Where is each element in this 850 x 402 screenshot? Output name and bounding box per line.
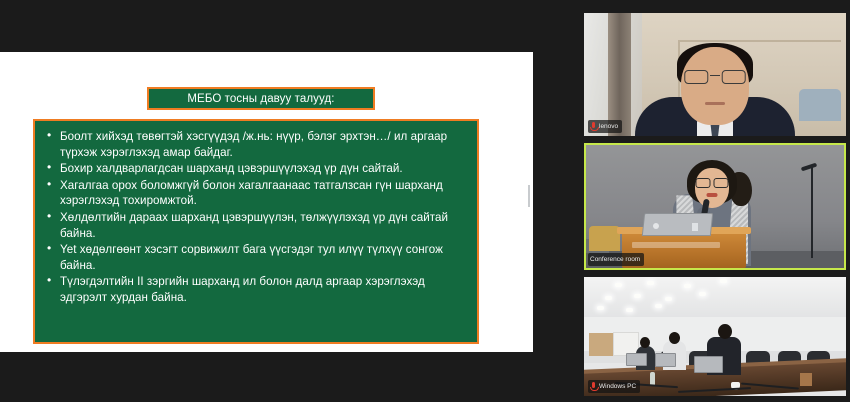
video-tile-participant-1[interactable]: lenovo [584, 13, 846, 136]
shared-screen-region[interactable]: МЕБО тосны давуу талууд: Боолт хийхэд тө… [0, 0, 578, 402]
video-feed [584, 13, 846, 136]
video-feed [584, 277, 846, 396]
slide-bullet-item: Хагалгаа орох боломжгүй болон хагалгаана… [41, 178, 467, 209]
share-edge-marker [528, 185, 530, 207]
meeting-window: МЕБО тосны давуу талууд: Боолт хийхэд тө… [0, 0, 850, 402]
slide-bullet-item: Yet хөдөлгөөнт хэсэгт сорвижилт бага үүс… [41, 242, 467, 273]
slide-bullets-panel: Боолт хийхэд төвөгтэй хэсгүүдэд /ж.нь: н… [33, 119, 479, 344]
slide-bullet-item: Түлэгдэлтийн II зэргийн шарханд ил болон… [41, 274, 467, 305]
slide-bullet-item: Хөлдөлтийн дараах шарханд цэвэршүүлэн, т… [41, 210, 467, 241]
mic-muted-icon [590, 122, 597, 131]
mic-muted-icon [590, 382, 597, 391]
participant-name-badge: lenovo [588, 120, 622, 133]
slide-title-box: МЕБО тосны давуу талууд: [147, 87, 375, 110]
participant-name-label: Windows PC [599, 383, 636, 390]
video-tile-participant-3[interactable]: Windows PC [584, 277, 846, 396]
presentation-slide: МЕБО тосны давуу талууд: Боолт хийхэд тө… [0, 52, 533, 352]
video-feed [586, 145, 844, 268]
participant-name-badge: Conference room [588, 253, 644, 266]
participant-video-rail[interactable]: lenovo [578, 0, 850, 402]
slide-title-text: МЕБО тосны давуу талууд: [187, 93, 334, 105]
participant-name-badge: Windows PC [588, 380, 640, 393]
slide-bullet-item: Боолт хийхэд төвөгтэй хэсгүүдэд /ж.нь: н… [41, 129, 467, 160]
participant-name-label: lenovo [599, 123, 618, 130]
participant-name-label: Conference room [590, 256, 640, 263]
slide-bullet-item: Бохир халдварлагдсан шарханд цэвэршүүлэх… [41, 161, 467, 177]
slide-bullet-list: Боолт хийхэд төвөгтэй хэсгүүдэд /ж.нь: н… [41, 129, 467, 306]
video-tile-participant-2[interactable]: Conference room [584, 143, 846, 270]
